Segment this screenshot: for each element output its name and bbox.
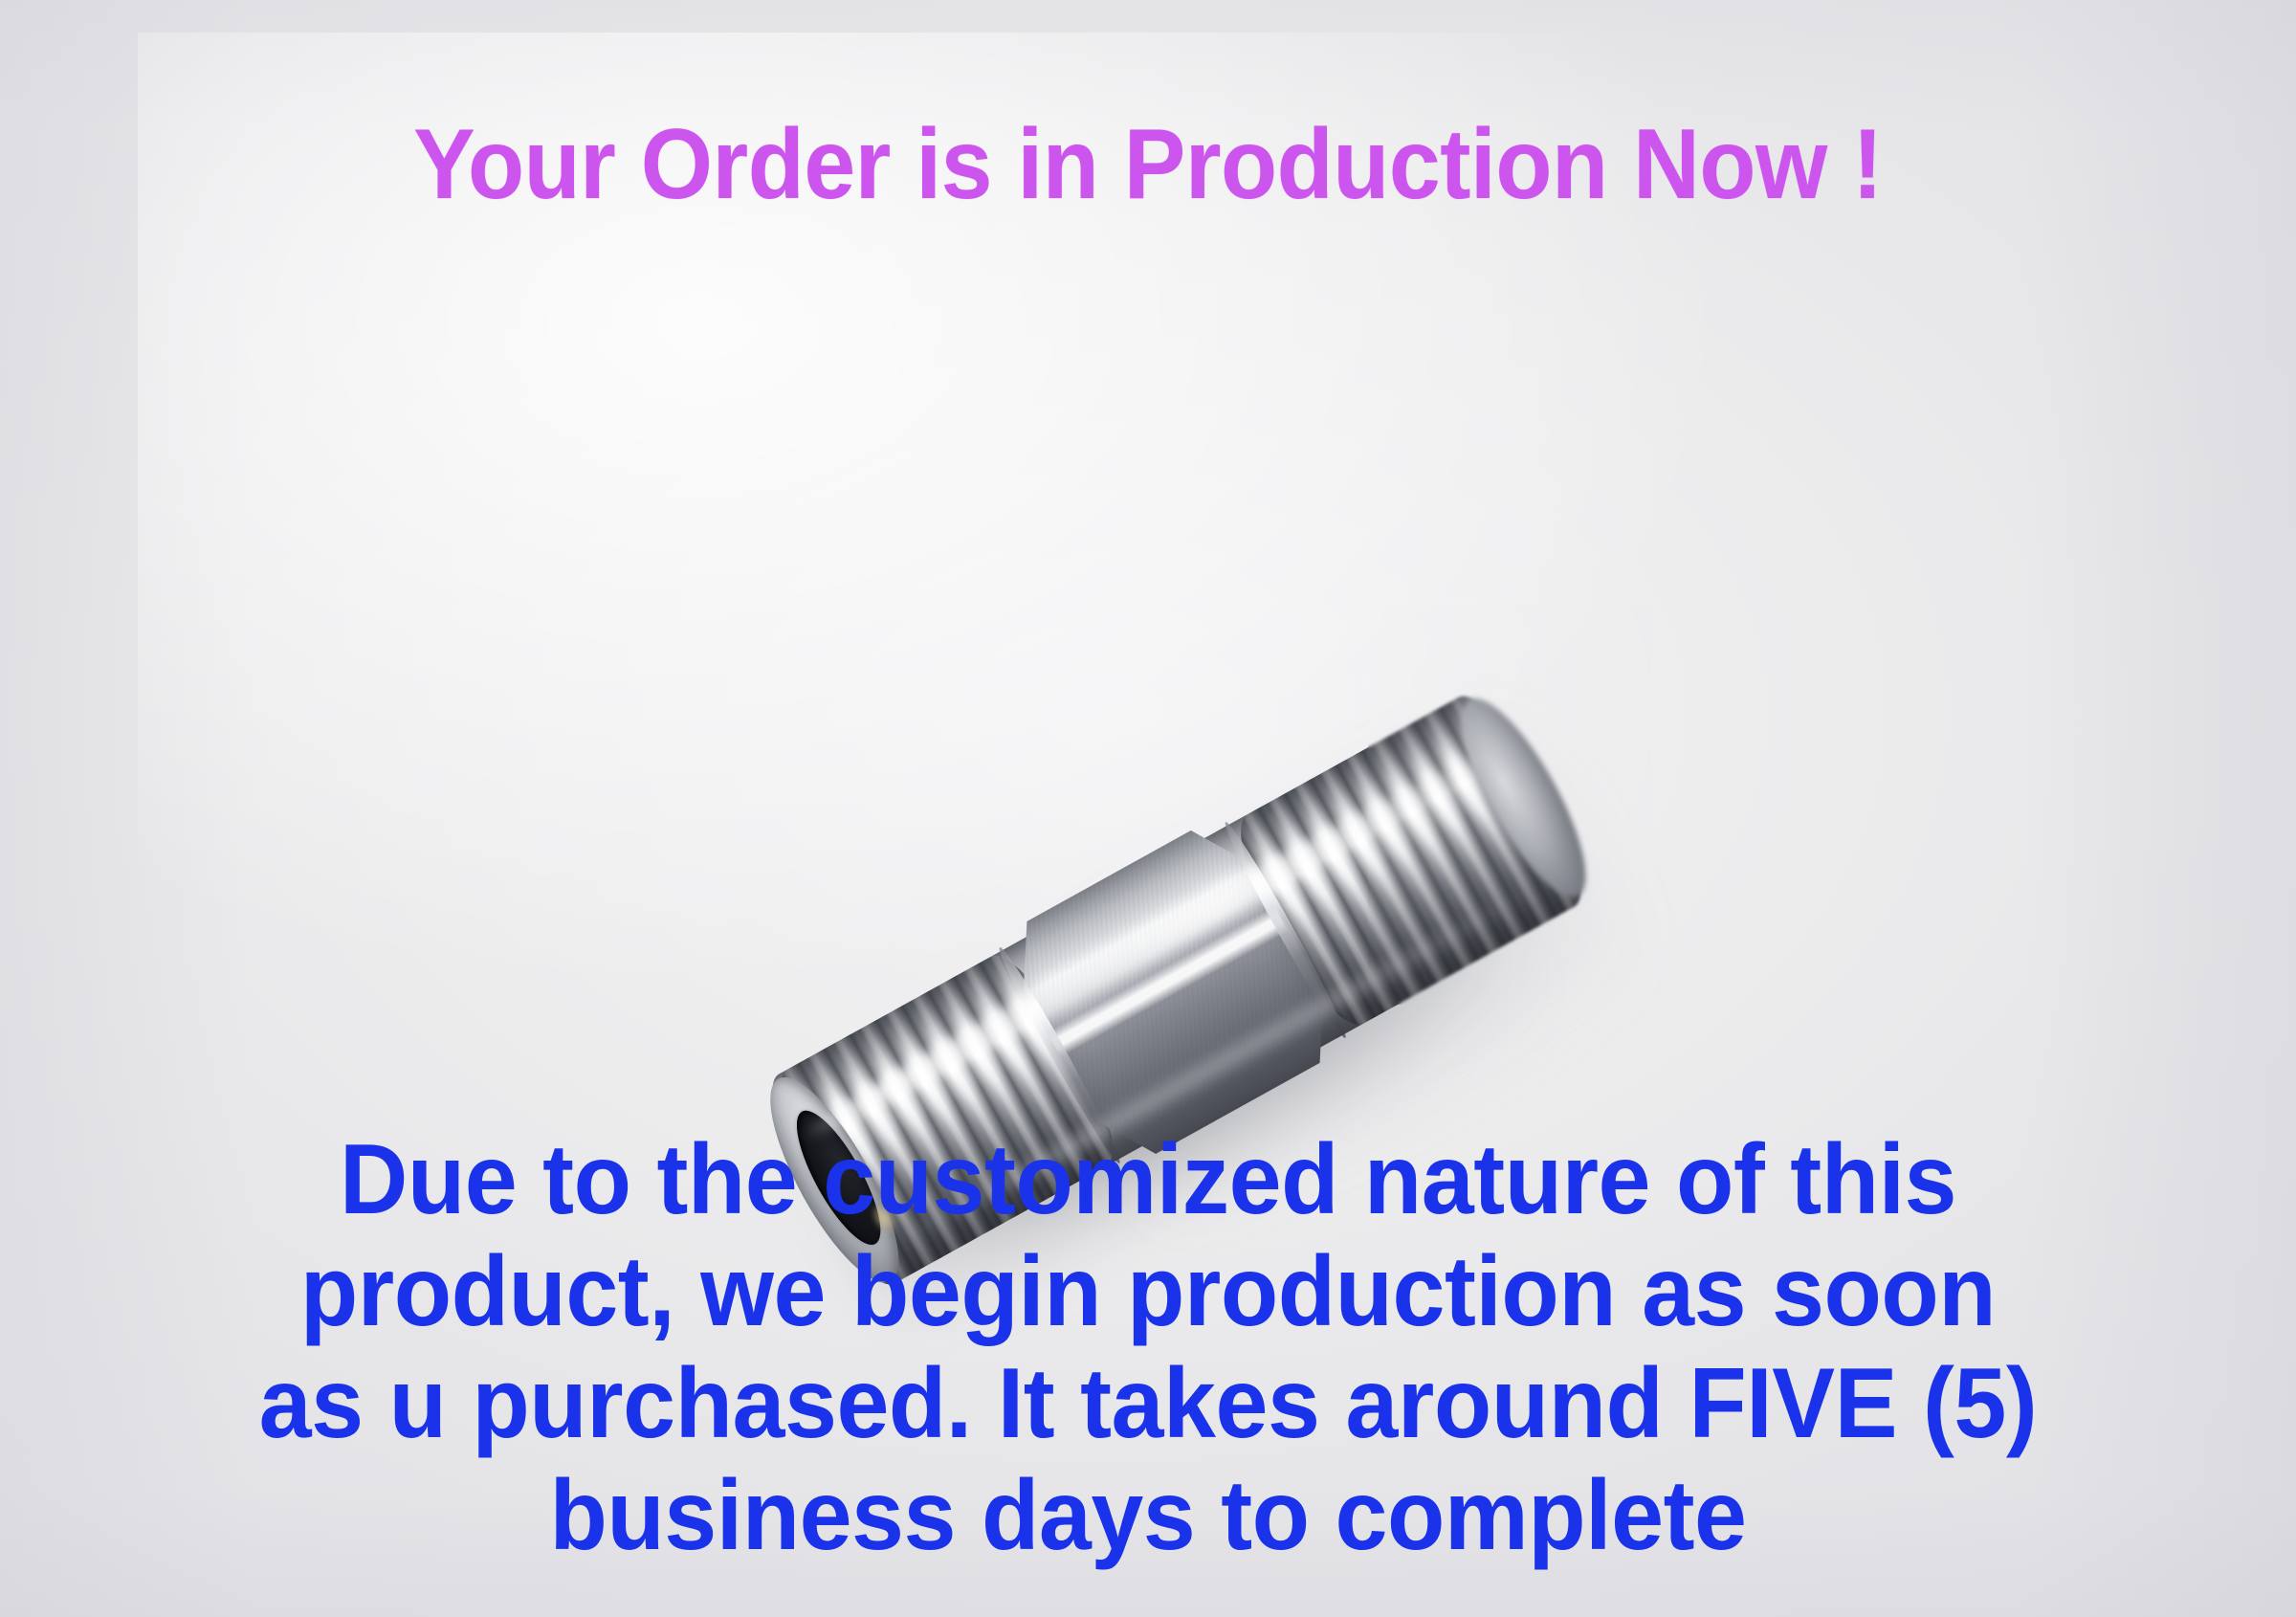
notice-line-3: as u purchased. It takes around FIVE (5) bbox=[57, 1348, 2239, 1460]
product-notice-image: Your Order is in Production Now ! Due to… bbox=[0, 0, 2296, 1617]
page-title: Your Order is in Production Now ! bbox=[80, 115, 2216, 214]
production-notice-text: Due to the customized nature of this pro… bbox=[0, 1124, 2296, 1572]
product-photo bbox=[0, 287, 2296, 1225]
notice-line-1: Due to the customized nature of this bbox=[57, 1124, 2239, 1236]
notice-line-2: product, we begin production as soon bbox=[57, 1236, 2239, 1348]
notice-line-4: business days to complete bbox=[57, 1460, 2239, 1572]
